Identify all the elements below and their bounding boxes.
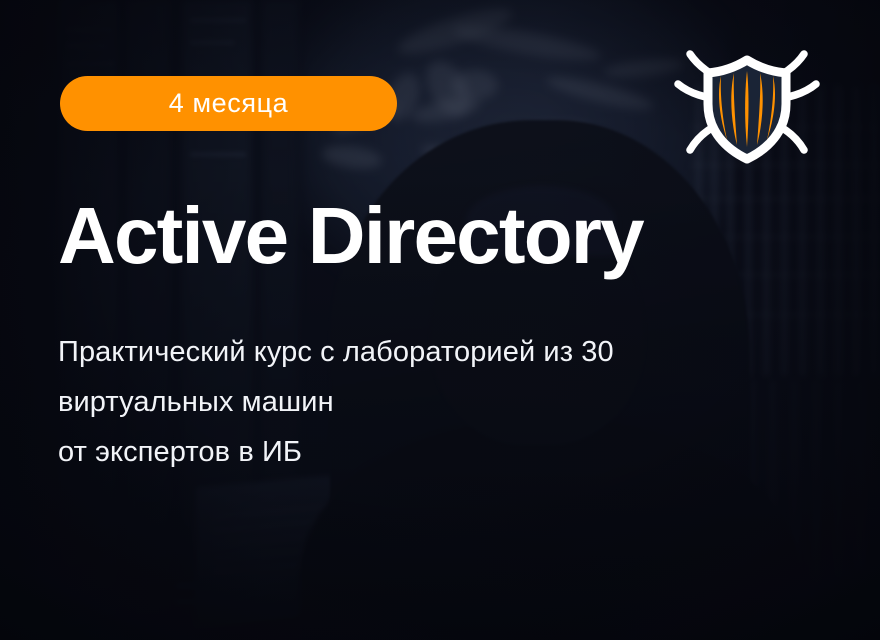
duration-badge-label: 4 месяца (169, 88, 289, 119)
duration-badge[interactable]: 4 месяца (60, 76, 397, 131)
banner-content: 4 месяца Active Directory Практический к… (0, 0, 880, 640)
subtitle: Практический курс с лабораторией из 30 в… (58, 327, 614, 477)
subtitle-line-2: виртуальных машин (58, 377, 614, 427)
promo-banner: 4 месяца Active Directory Практический к… (0, 0, 880, 640)
spider-shield-logo-icon (672, 46, 822, 168)
subtitle-line-1: Практический курс с лабораторией из 30 (58, 327, 614, 377)
page-title: Active Directory (58, 196, 643, 276)
subtitle-line-3: от экспертов в ИБ (58, 427, 614, 477)
